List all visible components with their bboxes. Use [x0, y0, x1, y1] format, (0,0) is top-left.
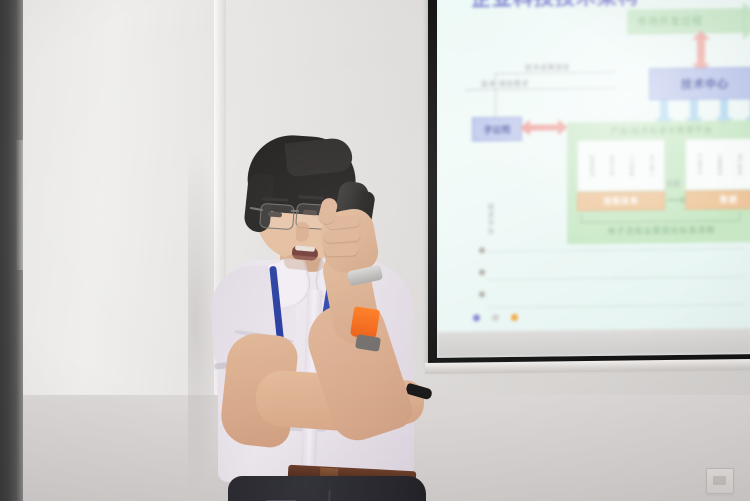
slide-title: 企业科技技术架构 [471, 0, 639, 11]
bullet-dot-icon [479, 269, 485, 275]
platform-footer: 电子流程设置固化标准流程 [567, 224, 750, 237]
separator-line [487, 276, 744, 280]
eyeglasses-lens-left [259, 203, 295, 230]
process-item: 试产验证 [737, 153, 742, 175]
market-process-arrow-label: 市场开发过程 [637, 13, 703, 29]
standardization-platform: 产品/技术标准化管理平台 标准规范 技术文件 工艺参数 设计输入 流程体系 支撑 [567, 120, 750, 244]
dark-edge-sheen [15, 140, 23, 270]
down-arrow-icon [720, 99, 728, 118]
separator-line [487, 304, 744, 308]
branch-label: 技术·规划需求 [481, 79, 529, 90]
bullet-dot-icon [479, 291, 485, 297]
legend-dot-icon-blue [473, 314, 480, 321]
market-process-arrow-head [743, 2, 750, 40]
platform-title: 产品/技术标准化管理平台 [567, 124, 750, 137]
process-bar: 数据 [685, 190, 750, 210]
process-item: 产品设计 [697, 154, 702, 176]
projection-screen-surface: 企业科技技术架构 市场开发过程 技术中心 [437, 0, 750, 358]
process-box: 产品设计 工程验证 试产验证 量产导入 [685, 138, 750, 191]
process-item: 工程验证 [717, 153, 722, 175]
branch-label: 技术成果源泉 [525, 62, 570, 73]
process-item: 标准规范 [589, 155, 594, 177]
process-connector-label: 支撑 [666, 179, 680, 189]
presentation-slide: 企业科技技术架构 市场开发过程 技术中心 [437, 0, 750, 358]
side-bullet-group [479, 247, 485, 313]
legend-dot-icon-gray [492, 314, 499, 321]
process-column: 标准规范 技术文件 工艺参数 设计输入 流程体系 [577, 139, 665, 211]
separator-line [487, 248, 744, 252]
red-double-arrow-icon [697, 39, 705, 65]
slide-bottom-band [437, 328, 750, 358]
legend-dot-icon-orange [511, 314, 518, 321]
switch-rocker [713, 476, 726, 485]
side-vertical-label: 技术平台 [485, 203, 495, 235]
process-item: 工艺参数 [629, 154, 634, 176]
sub-company-box: 子公司 [472, 117, 522, 142]
red-double-arrow-horizontal-icon [529, 124, 559, 130]
legend [473, 314, 518, 322]
process-box: 标准规范 技术文件 工艺参数 设计输入 [577, 139, 665, 192]
tech-center-box: 技术中心 [649, 67, 750, 100]
down-arrow-icon [690, 100, 698, 119]
projection-screen-frame: 企业科技技术架构 市场开发过程 技术中心 [428, 0, 750, 368]
finger [324, 229, 361, 243]
process-bar: 流程体系 [577, 191, 665, 211]
process-column: 产品设计 工程验证 试产验证 量产导入 数据 [685, 138, 750, 210]
down-arrow-icon [660, 100, 668, 119]
process-connector-arrow [667, 199, 681, 201]
presenter [200, 138, 460, 501]
process-item: 技术文件 [609, 155, 614, 177]
trousers [228, 476, 426, 501]
feedback-loop-line [581, 220, 740, 223]
finger [324, 243, 358, 256]
photograph-scene: 企业科技技术架构 市场开发过程 技术中心 [0, 0, 750, 501]
process-item: 设计输入 [649, 154, 654, 176]
wall-switch-plate [706, 468, 734, 494]
left-dark-edge [0, 0, 23, 501]
bullet-dot-icon [479, 247, 485, 253]
